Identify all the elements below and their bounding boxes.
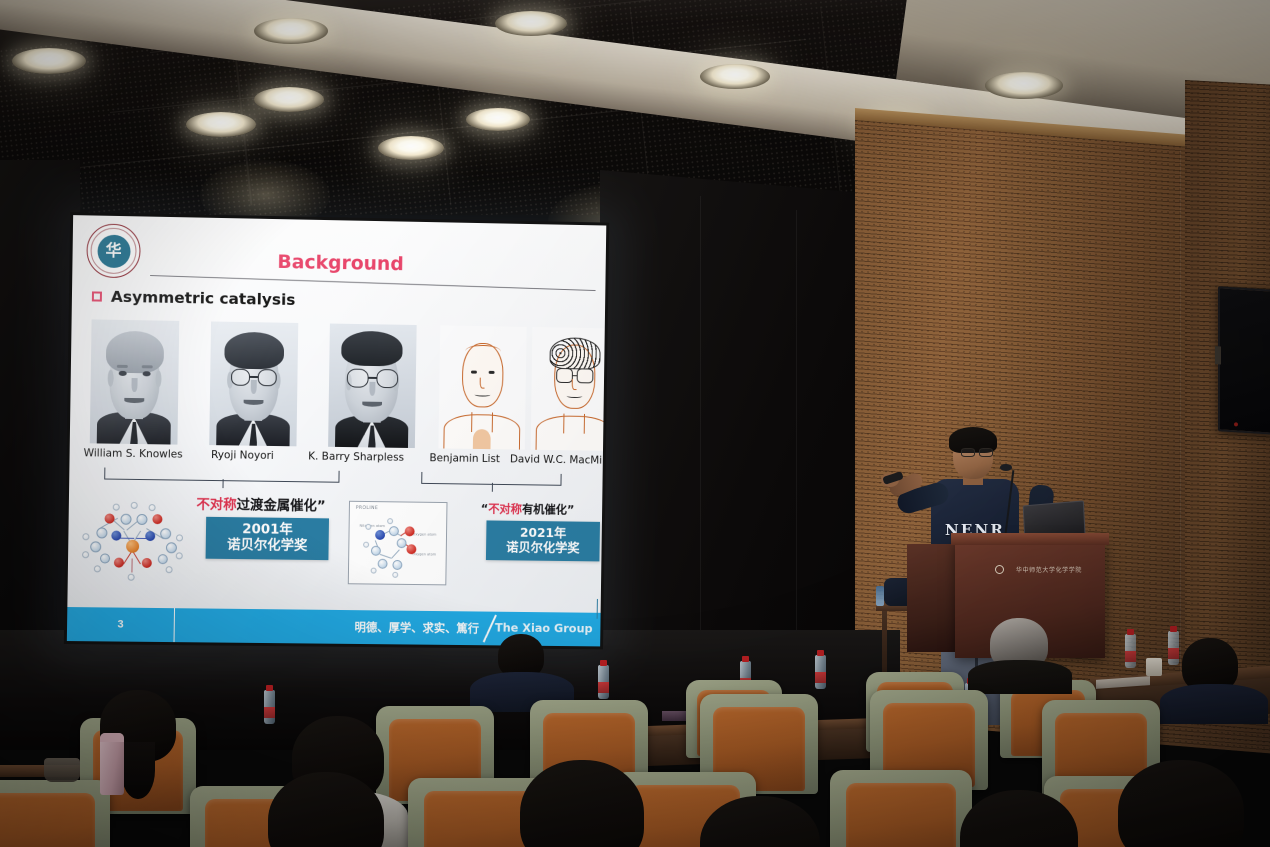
atom-carbon <box>96 527 107 538</box>
wall-panel-seam <box>700 196 701 666</box>
atom-carbon <box>90 541 101 552</box>
ceiling-downlight <box>700 64 770 89</box>
ceiling-downlight <box>254 18 328 44</box>
bullet-square-icon <box>92 291 102 301</box>
footer-motto: 明德、厚学、求实、篤行 <box>354 619 479 636</box>
caption-red-text: 不对称 <box>196 497 236 513</box>
award-year: 2001年 <box>242 521 293 538</box>
award-year: 2021年 <box>520 525 566 540</box>
atom-hydrogen <box>82 551 89 558</box>
atom-carbon <box>397 538 407 548</box>
atom-carbon <box>371 546 381 556</box>
atom-carbon <box>166 542 177 553</box>
wall-mounted-display <box>1218 286 1270 434</box>
caption-black-text: 有机催化” <box>522 502 575 517</box>
ceiling-downlight <box>378 136 444 160</box>
atom-hydrogen <box>149 504 156 511</box>
atom-hydrogen <box>176 552 183 559</box>
microphone <box>1000 464 1012 471</box>
atom-hydrogen <box>128 574 135 581</box>
caption-red-text: 不对称 <box>488 502 522 516</box>
laureate-portrait <box>90 319 180 444</box>
atom-carbon <box>160 528 171 539</box>
nobel-award-box-2001: 2001年 诺贝尔化学奖 <box>206 517 329 560</box>
laureate-portrait <box>209 321 298 446</box>
laureate-name: K. Barry Sharpless <box>308 450 404 463</box>
wall-panel-seam <box>796 210 797 670</box>
display-mount <box>1215 346 1221 364</box>
bullet-label: Asymmetric catalysis <box>111 288 296 309</box>
atom-carbon <box>100 553 110 563</box>
laureate-portrait <box>531 327 607 451</box>
paper-cup <box>1146 658 1162 676</box>
atom-hydrogen <box>392 572 398 578</box>
laureate-portrait <box>438 325 526 449</box>
award-name: 诺贝尔化学奖 <box>206 538 329 555</box>
ceiling-downlight <box>495 11 567 36</box>
atom-hydrogen <box>166 566 173 573</box>
atom-hydrogen <box>371 568 377 574</box>
lecture-hall-photo: 华 Background Asymmetric catalysis <box>0 0 1270 847</box>
laureate-name: David W.C. MacMillan <box>510 453 606 466</box>
projection-screen: 华 Background Asymmetric catalysis <box>64 212 609 649</box>
atom-oxygen <box>105 513 115 523</box>
bullet-row: Asymmetric catalysis <box>92 287 296 309</box>
water-bottle <box>598 665 609 699</box>
slide-page-number: 3 <box>67 607 175 642</box>
podium-side-face <box>907 544 959 652</box>
atom-nitrogen <box>111 531 121 541</box>
auditorium-seat <box>830 770 972 847</box>
nobel-award-box-2021: 2021年 诺贝尔化学奖 <box>486 520 600 560</box>
atom-carbon <box>120 514 131 525</box>
atom-oxygen <box>142 558 152 568</box>
left-group-caption: 不对称过渡金属催化” <box>196 493 325 515</box>
atom-hydrogen <box>363 542 369 548</box>
presentation-slide: 华 Background Asymmetric catalysis <box>67 215 606 646</box>
presenter-glasses <box>961 448 993 457</box>
atom-carbon <box>158 554 168 564</box>
podium-nameplate: 华中师范大学化学学院 <box>1001 562 1097 577</box>
podium-top-surface <box>951 533 1109 545</box>
atom-oxygen <box>405 526 415 536</box>
atom-carbon <box>378 559 388 569</box>
ceiling-downlight <box>466 108 530 131</box>
audience-member-head-foreground <box>1118 760 1244 847</box>
molecule-label-oxygen: Oxygen atom <box>412 552 436 556</box>
atom-hydrogen <box>113 504 120 511</box>
audience-member-shoulders <box>968 660 1072 694</box>
footer-group-name: The Xiao Group <box>495 621 593 636</box>
ceiling-downlight <box>186 112 256 137</box>
atom-hydrogen <box>82 533 89 540</box>
atom-oxygen <box>406 544 416 554</box>
footer-tab-line <box>596 599 598 619</box>
atom-metal <box>126 540 139 553</box>
auditorium-seat <box>0 780 110 847</box>
water-bottle <box>1125 634 1136 668</box>
molecule-transition-metal-complex <box>80 497 189 590</box>
atom-nitrogen <box>145 531 155 541</box>
portrait-photo-noyori <box>209 321 298 446</box>
atom-hydrogen <box>94 565 101 572</box>
laureate-portrait <box>328 324 417 449</box>
group-bracket-right <box>421 472 561 486</box>
laureate-names: William S. Knowles Ryoji Noyori K. Barry… <box>77 447 599 470</box>
atom-nitrogen <box>375 530 385 540</box>
portrait-drawing-list <box>438 325 526 449</box>
ceiling-downlight <box>254 87 324 112</box>
molecule-title: PROLINE <box>356 506 378 511</box>
water-bottle <box>815 655 826 689</box>
atom-carbon <box>136 514 147 525</box>
ceiling-downlight <box>985 72 1063 99</box>
atom-oxygen <box>152 514 162 524</box>
award-name: 诺贝尔化学奖 <box>486 540 600 556</box>
group-bracket-left <box>104 468 339 483</box>
atom-hydrogen <box>131 502 138 509</box>
portrait-drawing-macmillan <box>531 327 607 451</box>
caption-black-text: 过渡金属催化” <box>237 497 326 514</box>
water-bottle <box>264 690 275 724</box>
molecule-label-oxygen: Oxygen atom <box>413 532 437 536</box>
thermos-bottle <box>100 733 124 795</box>
drinking-cup <box>44 758 80 782</box>
water-bottle <box>876 586 884 606</box>
portrait-photo-sharpless <box>328 324 417 449</box>
molecule-label-nitrogen: Nitrogen atom <box>359 524 385 528</box>
atom-oxygen <box>114 558 124 568</box>
laureate-name: William S. Knowles <box>84 447 183 460</box>
atom-hydrogen <box>176 534 183 541</box>
atom-hydrogen <box>387 518 393 524</box>
atom-hydrogen <box>365 524 371 530</box>
portrait-photo-knowles <box>90 319 180 444</box>
laureate-name: Ryoji Noyori <box>211 449 274 462</box>
display-power-led <box>1234 422 1238 426</box>
ceiling-downlight <box>12 48 86 74</box>
atom-carbon <box>389 526 399 536</box>
laureate-portraits <box>86 319 593 450</box>
wall-panel-seam <box>1180 150 1181 710</box>
audience-member-shoulders <box>1160 684 1268 724</box>
laureate-name: Benjamin List <box>429 452 500 465</box>
molecule-proline-card: PROLINE Nitrogen atom Oxygen atom Oxygen… <box>348 501 448 586</box>
water-bottle <box>1168 631 1179 665</box>
right-group-caption: “不对称有机催化” <box>481 501 575 518</box>
atom-carbon <box>392 560 402 570</box>
